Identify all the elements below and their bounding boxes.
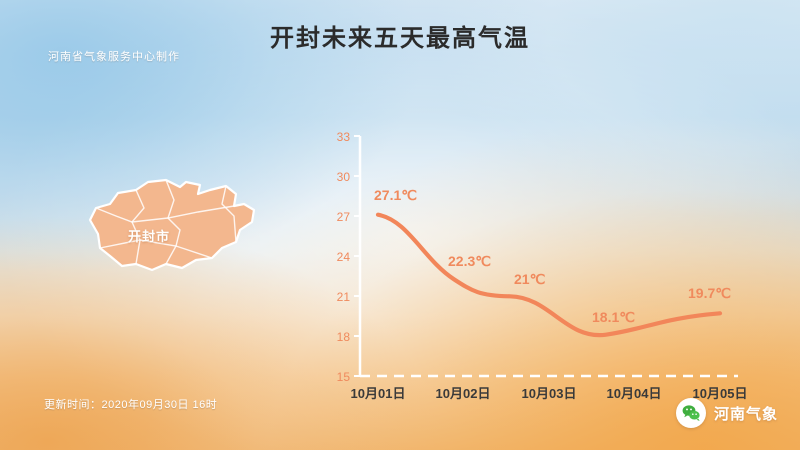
producer-credit: 河南省气象服务中心制作 xyxy=(48,48,180,64)
point-label: 27.1℃ xyxy=(374,187,417,203)
temperature-curve xyxy=(378,215,720,335)
x-tick-label: 10月02日 xyxy=(436,386,491,400)
y-tick-label: 18 xyxy=(337,330,351,344)
x-tick-label: 10月01日 xyxy=(351,386,406,400)
y-tick-label: 27 xyxy=(337,210,351,224)
weather-forecast-graphic: 开封未来五天最高气温 河南省气象服务中心制作 开封市 更新时间：2020年09月… xyxy=(0,0,800,450)
y-tick-label: 21 xyxy=(337,290,351,304)
wechat-glyph xyxy=(681,403,701,423)
y-tick-label: 15 xyxy=(337,370,351,384)
map-region-label: 开封市 xyxy=(128,226,170,245)
x-tick-label: 10月04日 xyxy=(607,386,662,400)
y-tick-label: 30 xyxy=(337,170,351,184)
update-time-label: 更新时间：2020年09月30日 16时 xyxy=(44,396,217,412)
x-tick-label: 10月03日 xyxy=(522,386,577,400)
point-label: 19.7℃ xyxy=(688,285,731,301)
wechat-name: 河南气象 xyxy=(714,403,778,424)
point-label: 21℃ xyxy=(514,271,546,287)
wechat-badge: 河南气象 xyxy=(676,398,778,428)
point-label: 22.3℃ xyxy=(448,253,491,269)
point-label: 18.1℃ xyxy=(592,309,635,325)
wechat-icon xyxy=(676,398,706,428)
temperature-line-chart: 33 30 27 24 21 18 15 27.1℃ 22.3℃ 21℃ 18.… xyxy=(320,128,760,400)
y-tick-label: 24 xyxy=(337,250,351,264)
kaifeng-map: 开封市 xyxy=(40,160,280,300)
x-tick-label: 10月05日 xyxy=(693,386,748,400)
y-tick-label: 33 xyxy=(337,130,351,144)
